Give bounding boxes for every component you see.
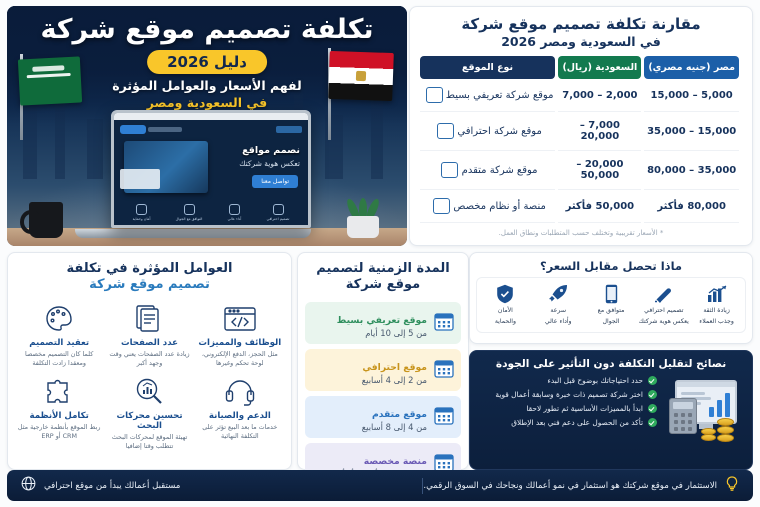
benefit-line2: يعكس هوية شركتك [637, 318, 690, 327]
tip-text: حدد احتياجاتك بوضوح قبل البدء [547, 376, 643, 385]
mock-subline: تعكس هوية شركتك [239, 159, 300, 168]
factors-title-line2: تصميم موقع شركة [14, 277, 285, 293]
tips-title: نصائح لتقليل التكلفة دون التأثير على الج… [479, 358, 743, 370]
cell-site-type: منصة أو نظام مخصص [420, 190, 556, 223]
timeline-card: المدة الزمنية لتصميم موقع شركة موقع تعري… [297, 252, 469, 470]
cell-egypt-price: 15,000 – 35,000 [644, 112, 739, 151]
benefit-line1: متوافق مع [585, 307, 638, 316]
timeline-item-duration: من 2 إلى 4 أسابيع [312, 375, 427, 385]
footer-right-group: مستقبل أعمالك يبدأ من موقع احترافي [7, 476, 180, 495]
cube-icon [433, 198, 450, 214]
benefit-line2: وأداء عالي [532, 318, 585, 327]
code-window-icon [197, 302, 283, 336]
mock-feature-row: تصميم احترافي أداء عالي التوافق مع الجوا… [114, 204, 308, 221]
timeline-item-name: موقع متقدم [372, 409, 427, 420]
tip-text: ابدأ بالمميزات الأساسية ثم تطور لاحقا [526, 404, 643, 413]
hero-title: تكلفة تصميم موقع شركة [7, 14, 407, 45]
tip-item: تأكد من الحصول على دعم فني بعد الإطلاق [479, 418, 657, 427]
footer-right-text: مستقبل أعمالك يبدأ من موقع احترافي [44, 481, 180, 491]
factor-desc: مثل الحجز، الدفع الإلكتروني، لوحة تحكم و… [197, 350, 283, 369]
factor-desc: خدمات ما بعد البيع تؤثر على التكلفة النه… [197, 423, 283, 442]
column-header-egypt: مصر (جنيه مصري) [644, 56, 739, 79]
cell-saudi-price: 50,000 فأكثر [558, 190, 641, 223]
price-comparison-card: مقارنة تكلفة تصميم موقع شركة في السعودية… [409, 6, 753, 246]
pages-icon [106, 302, 192, 336]
gears-icon [441, 162, 458, 178]
timeline-item-name: موقع تعريفي بسيط [337, 315, 427, 326]
benefit-line2: والحماية [479, 318, 532, 327]
mock-contact-button: تواصل معنا [252, 175, 298, 188]
hero-year-badge: دليل 2026 [147, 50, 267, 74]
cell-saudi-price: 2,000 – 7,000 [558, 79, 641, 112]
potted-plant [343, 198, 383, 238]
coin [701, 434, 716, 441]
footer-left-text: الاستثمار في موقع شركتك هو استثمار في نم… [423, 481, 717, 491]
chart-growth-icon [690, 283, 743, 305]
headset-icon [197, 375, 283, 409]
cost-factors-card: العوامل المؤثرة في تكلفة تصميم موقع شركة… [7, 252, 292, 470]
infographic-page: تكلفة تصميم موقع شركة دليل 2026 لفهم الأ… [0, 0, 760, 507]
check-icon [648, 404, 657, 413]
footer-divider [422, 478, 423, 494]
benefit-line1: تصميم احترافي [637, 307, 690, 316]
factor-desc: ربط الموقع بأنظمة خارجية مثل CRM أو ERP [16, 423, 102, 442]
factor-desc: تهيئة الموقع لمحركات البحث تتطلب وقتا إض… [106, 433, 192, 452]
timeline-item: موقع احترافي من 2 إلى 4 أسابيع [305, 349, 461, 391]
benefit-line1: سرعة [532, 307, 585, 316]
pen-design-icon [637, 283, 690, 305]
monitor-pen-icon [426, 87, 443, 103]
timeline-title: المدة الزمنية لتصميم موقع شركة [305, 261, 461, 294]
mock-feature-label: التوافق مع الجوال [176, 217, 203, 221]
lightbulb-icon [725, 476, 739, 496]
factors-title: العوامل المؤثرة في تكلفة تصميم موقع شركة [14, 261, 285, 294]
puzzle-icon [16, 375, 102, 409]
site-type-label: موقع شركة تعريفي بسيط [446, 90, 554, 101]
mock-hero-photo-2 [120, 169, 160, 189]
benefits-title: ماذا تحصل مقابل السعر؟ [476, 259, 746, 273]
benefit-item: الأمان والحماية [479, 283, 532, 327]
factor-item: تعقيد التصميم كلما كان التصميم مخصصا ومع… [14, 302, 104, 369]
cell-site-type: موقع شركة تعريفي بسيط [420, 79, 556, 112]
benefit-item: سرعة وأداء عالي [532, 283, 585, 327]
factor-desc: كلما كان التصميم مخصصا ومعقدا زادت التكل… [16, 350, 102, 369]
calendar-icon [434, 405, 454, 429]
hero-banner: تكلفة تصميم موقع شركة دليل 2026 لفهم الأ… [7, 6, 407, 246]
timeline-item-name: موقع احترافي [362, 362, 427, 373]
mock-feature-label: أداء عالي [228, 217, 242, 221]
column-header-site-type: نوع الموقع [420, 56, 556, 79]
footer-bar: الاستثمار في موقع شركتك هو استثمار في نم… [7, 470, 753, 501]
mock-feature-lock-icon: أمان وحماية [133, 204, 151, 221]
benefit-item: تصميم احترافي يعكس هوية شركتك [637, 283, 690, 327]
table-row: 15,000 – 35,000 7,000 – 20,000 موقع شركة… [420, 112, 739, 151]
benefit-line1: زيادة الثقة [690, 307, 743, 316]
timeline-item-duration: من 4 إلى 8 أسابيع [312, 422, 427, 432]
laptop-mockup: نصمم مواقع تعكس هوية شركتك تواصل معنا تص… [111, 110, 311, 238]
mock-feature-speed-icon: أداء عالي [228, 204, 242, 221]
check-icon [648, 390, 657, 399]
web-page-icon [437, 123, 454, 139]
column-header-saudi: السعودية (ريال) [558, 56, 641, 79]
factor-name: عدد الصفحات [106, 338, 192, 348]
timeline-item-duration: من 5 إلى 10 أيام [312, 328, 427, 338]
factor-name: تحسين محركات البحث [106, 411, 192, 431]
mock-feature-shield-icon: تصميم احترافي [267, 204, 290, 221]
laptop-base [75, 229, 311, 238]
timeline-item: موقع تعريفي بسيط من 5 إلى 10 أيام [305, 302, 461, 344]
factors-title-line1: العوامل المؤثرة في تكلفة [66, 261, 232, 276]
shield-check-icon [479, 283, 532, 305]
factor-name: تعقيد التصميم [16, 338, 102, 348]
site-type-label: موقع شركة متقدم [462, 165, 538, 176]
cell-egypt-price: 5,000 – 15,000 [644, 79, 739, 112]
site-type-label: موقع شركة احترافي [457, 126, 541, 137]
factor-item: الدعم والصيانة خدمات ما بعد البيع تؤثر ع… [195, 375, 285, 452]
seo-magnifier-icon [106, 375, 192, 409]
timeline-item-name: منصة مخصصة [364, 456, 427, 467]
check-icon [648, 376, 657, 385]
benefit-item: متوافق مع الجوال [585, 283, 638, 327]
mock-headline: نصمم مواقع [242, 145, 300, 156]
cost-saving-tips-card: نصائح لتقليل التكلفة دون التأثير على الج… [469, 350, 753, 470]
factor-name: الوظائف والمميزات [197, 338, 283, 348]
calculator-illustration [669, 398, 697, 434]
factor-item: تكامل الأنظمة ربط الموقع بأنظمة خارجية م… [14, 375, 104, 452]
tip-text: تأكد من الحصول على دعم فني بعد الإطلاق [511, 418, 643, 427]
tip-item: ابدأ بالمميزات الأساسية ثم تطور لاحقا [479, 404, 657, 413]
tip-item: اختر شركة تصميم ذات خبرة وسابقة أعمال قو… [479, 390, 657, 399]
table-title-main: مقارنة تكلفة تصميم موقع شركة [461, 15, 700, 33]
cell-saudi-price: 7,000 – 20,000 [558, 112, 641, 151]
cell-site-type: موقع شركة متقدم [420, 151, 556, 190]
factor-name: تكامل الأنظمة [16, 411, 102, 421]
cell-saudi-price: 20,000 – 50,000 [558, 151, 641, 190]
monitor-calculator-coins-illustration [661, 376, 743, 450]
coin [701, 428, 716, 435]
laptop-screen: نصمم مواقع تعكس هوية شركتك تواصل معنا تص… [111, 110, 311, 228]
timeline-title-line1: المدة الزمنية لتصميم [316, 261, 449, 276]
hero-subtitle-2: في السعودية ومصر [7, 95, 407, 110]
mobile-icon [585, 283, 638, 305]
hero-subtitle-1: لفهم الأسعار والعوامل المؤثرة [7, 78, 407, 93]
table-header-row: مصر (جنيه مصري) السعودية (ريال) نوع المو… [420, 56, 739, 79]
calendar-icon [434, 358, 454, 382]
table-title: مقارنة تكلفة تصميم موقع شركة في السعودية… [420, 15, 742, 49]
coin [717, 418, 734, 426]
mock-feature-label: تصميم احترافي [267, 217, 290, 221]
benefit-item: زيادة الثقة وجذب العملاء [690, 283, 743, 327]
table-note: * الأسعار تقريبية وتختلف حسب المتطلبات و… [420, 229, 742, 237]
benefit-line2: وجذب العملاء [690, 318, 743, 327]
benefit-line1: الأمان [479, 307, 532, 316]
table-subtitle: في السعودية ومصر 2026 [420, 34, 742, 50]
factor-item: تحسين محركات البحث تهيئة الموقع لمحركات … [104, 375, 194, 452]
mock-site-logo [276, 126, 302, 133]
site-type-label: منصة أو نظام مخصص [453, 201, 546, 212]
check-icon [648, 418, 657, 427]
tips-list: حدد احتياجاتك بوضوح قبل البدء اختر شركة … [479, 376, 657, 432]
timeline-item: موقع متقدم من 4 إلى 8 أسابيع [305, 396, 461, 438]
price-table: مصر (جنيه مصري) السعودية (ريال) نوع المو… [417, 56, 742, 223]
benefits-grid: زيادة الثقة وجذب العملاء تصميم احترافي ي… [476, 277, 746, 333]
rocket-icon [532, 283, 585, 305]
factor-item: عدد الصفحات زيادة عدد الصفحات يعني وقت و… [104, 302, 194, 369]
factors-grid: الوظائف والمميزات مثل الحجز، الدفع الإلك… [14, 302, 285, 452]
cell-site-type: موقع شركة احترافي [420, 112, 556, 151]
factor-item: الوظائف والمميزات مثل الحجز، الدفع الإلك… [195, 302, 285, 369]
palette-icon [16, 302, 102, 336]
benefit-line2: الجوال [585, 318, 638, 327]
egypt-flag [328, 51, 394, 101]
coffee-mug [29, 202, 63, 238]
timeline-list: موقع تعريفي بسيط من 5 إلى 10 أيام موقع ا… [305, 302, 461, 485]
cell-egypt-price: 35,000 – 80,000 [644, 151, 739, 190]
table-row: 80,000 فأكثر 50,000 فأكثر منصة أو نظام م… [420, 190, 739, 223]
factor-name: الدعم والصيانة [197, 411, 283, 421]
mock-feature-label: أمان وحماية [133, 217, 151, 221]
tip-text: اختر شركة تصميم ذات خبرة وسابقة أعمال قو… [495, 390, 643, 399]
benefits-card: ماذا تحصل مقابل السعر؟ زيادة الثقة وجذب … [469, 252, 753, 344]
cell-egypt-price: 80,000 فأكثر [644, 190, 739, 223]
table-row: 35,000 – 80,000 20,000 – 50,000 موقع شرك… [420, 151, 739, 190]
globe-icon [21, 476, 36, 495]
footer-left-group: الاستثمار في موقع شركتك هو استثمار في نم… [423, 476, 753, 496]
mock-site-menu [148, 127, 182, 132]
calendar-icon [434, 311, 454, 335]
mock-site-cta-button [120, 125, 146, 134]
timeline-title-line2: موقع شركة [305, 277, 461, 293]
mock-feature-mobile-icon: التوافق مع الجوال [176, 204, 203, 221]
factor-desc: زيادة عدد الصفحات يعني وقت وجهد أكبر [106, 350, 192, 369]
coin [717, 434, 734, 442]
coin [717, 426, 734, 434]
tip-item: حدد احتياجاتك بوضوح قبل البدء [479, 376, 657, 385]
table-row: 5,000 – 15,000 2,000 – 7,000 موقع شركة ت… [420, 79, 739, 112]
